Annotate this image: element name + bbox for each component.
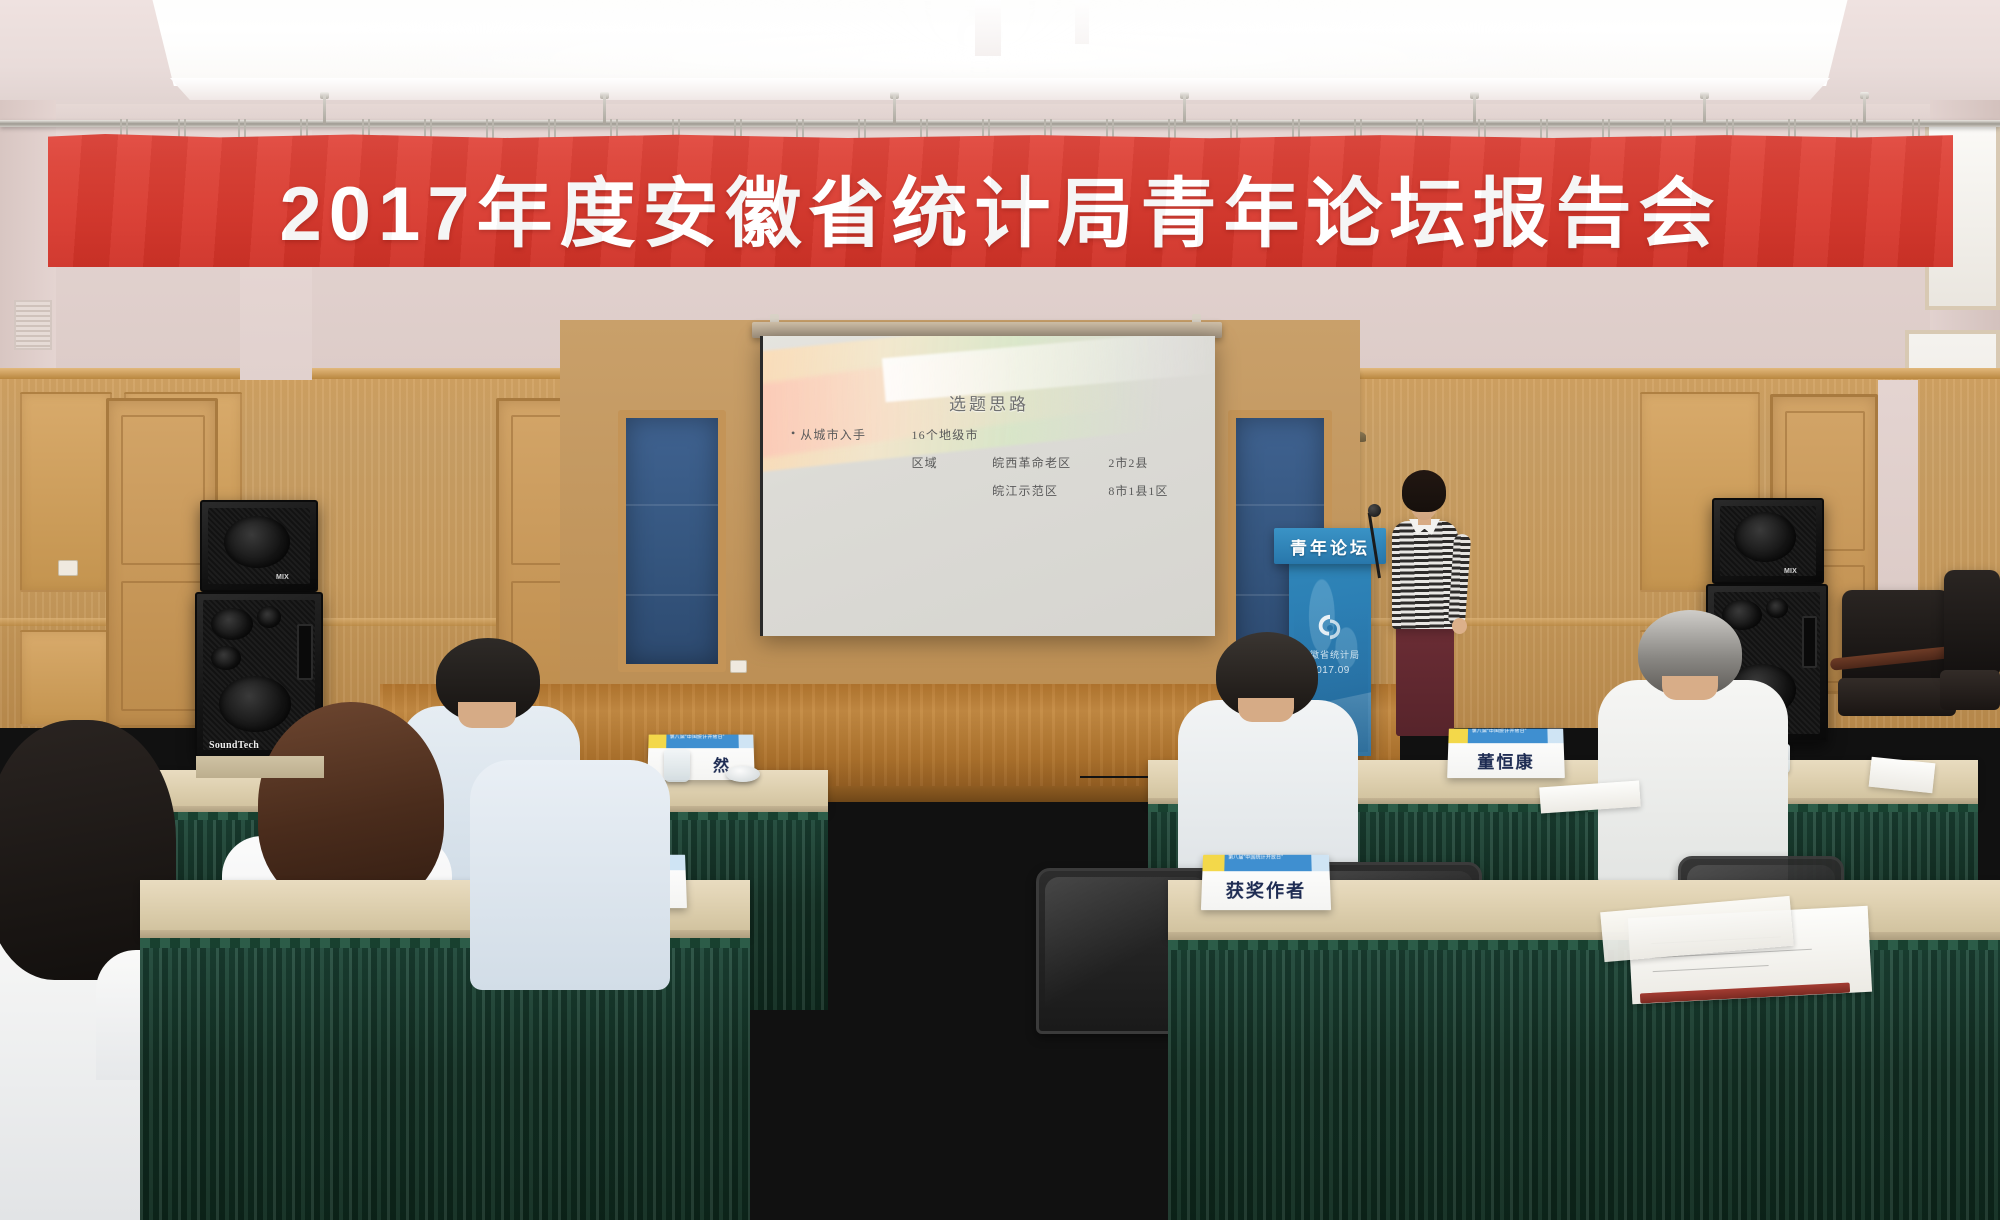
slide-cell: 8市1县1区 <box>1108 482 1191 499</box>
cup-lid <box>726 766 760 782</box>
speaker-horn <box>257 606 281 628</box>
slide-body: • 从城市入手 16个地级市 • 区域 皖西革命老区 2市2县 • 皖江示范区 … <box>791 426 1191 510</box>
loudspeaker-top-right: MIX <box>1712 498 1824 584</box>
speaker-tweeter <box>211 608 253 640</box>
slide-cell: 皖西革命老区 <box>992 454 1108 471</box>
slide-cell <box>795 482 911 499</box>
slide-row: • 皖江示范区 8市1县1区 <box>791 482 1191 499</box>
acoustic-panel-left <box>618 410 726 672</box>
wood-panel <box>20 630 112 726</box>
speaker-brand-top: MIX <box>276 574 289 581</box>
wall-outlet <box>730 660 747 673</box>
nameplate-banner: 第八届“中国统计开放日” <box>648 735 753 748</box>
armchair-seat <box>1838 678 1956 716</box>
speaker-woofer <box>219 676 291 732</box>
armchair-seat <box>1940 670 2000 710</box>
speaker-woofer <box>1734 512 1796 562</box>
nameplate-banner-text: 第八届“中国统计开放日” <box>1228 855 1314 859</box>
slide-cell: 皖江示范区 <box>992 482 1108 499</box>
stage-step <box>196 756 324 778</box>
microphone-icon <box>1368 504 1381 517</box>
person-hair <box>258 702 444 908</box>
door-panel <box>121 581 205 711</box>
slide-cell: 区域 <box>911 454 992 471</box>
slide-cell <box>1108 426 1191 443</box>
speaker-brand: SoundTech <box>209 740 259 751</box>
presenter-hair <box>1402 470 1446 512</box>
slide-cell <box>911 482 992 499</box>
armchair-back <box>1842 590 1950 682</box>
ceiling-cove-molding <box>170 78 1830 100</box>
person-neck <box>1238 698 1294 722</box>
loudspeaker-top-left: MIX <box>200 500 318 592</box>
speaker-port <box>297 624 313 680</box>
nameplate-dong: 第八届“中国统计开放日” 董恒康 <box>1447 729 1565 778</box>
podium-header-text: 青年论坛 <box>1290 534 1370 559</box>
speaker-brand-top: MIX <box>1784 568 1797 575</box>
presenter-skirt <box>1396 624 1454 736</box>
nameplate-banner-text: 第八届“中国统计开放日” <box>670 735 741 738</box>
wall-strip-right <box>1878 380 1918 610</box>
person-neck <box>1662 676 1718 700</box>
nameplate-name: 董恒康 <box>1447 743 1565 778</box>
slide-cell: 2市2县 <box>1108 454 1191 471</box>
slide-row: • 从城市入手 16个地级市 <box>791 426 1191 443</box>
nameplate-banner-text: 第八届“中国统计开放日” <box>1472 729 1550 733</box>
air-vent <box>14 300 52 350</box>
door-panel <box>121 415 205 565</box>
event-banner: 2017年度安徽省统计局青年论坛报告会 <box>48 134 1953 267</box>
speaker-port <box>1802 616 1817 668</box>
speaker-horn <box>1766 598 1788 618</box>
nameplate-name: 获奖作者 <box>1201 871 1331 910</box>
ceiling-beam-secondary <box>1075 0 1089 44</box>
wall-outlet <box>58 560 78 576</box>
slide-title: 选题思路 <box>763 390 1215 415</box>
podium-header-sign: 青年论坛 <box>1274 528 1386 564</box>
presenter-hand <box>1452 618 1467 634</box>
slide-cell: 从城市入手 <box>795 426 911 443</box>
person-neck <box>458 702 516 728</box>
projection-screen: 选题思路 • 从城市入手 16个地级市 • 区域 皖西革命老区 2市2县 • 皖… <box>760 336 1215 636</box>
table-right-front-skirt <box>1168 950 2000 1220</box>
slide-row: • 区域 皖西革命老区 2市2县 <box>791 454 1191 471</box>
water-cup <box>664 750 690 782</box>
person-torso <box>470 760 670 990</box>
nameplate-banner: 第八届“中国统计开放日” <box>1202 855 1329 871</box>
slide-cell <box>795 454 911 471</box>
event-banner-text: 2017年度安徽省统计局青年论坛报告会 <box>48 152 1953 262</box>
nameplate-award-right: 第八届“中国统计开放日” 获奖作者 <box>1201 855 1331 910</box>
conference-hall-photo: 选题思路 • 从城市入手 16个地级市 • 区域 皖西革命老区 2市2县 • 皖… <box>0 0 2000 1220</box>
slide-cell: 16个地级市 <box>911 426 992 443</box>
slide-cell <box>992 426 1108 443</box>
nameplate-banner: 第八届“中国统计开放日” <box>1448 729 1563 744</box>
armchair-back <box>1944 570 2000 674</box>
speaker-woofer <box>224 516 290 568</box>
speaker-mid <box>211 646 241 670</box>
ceiling-beam <box>975 0 1001 56</box>
